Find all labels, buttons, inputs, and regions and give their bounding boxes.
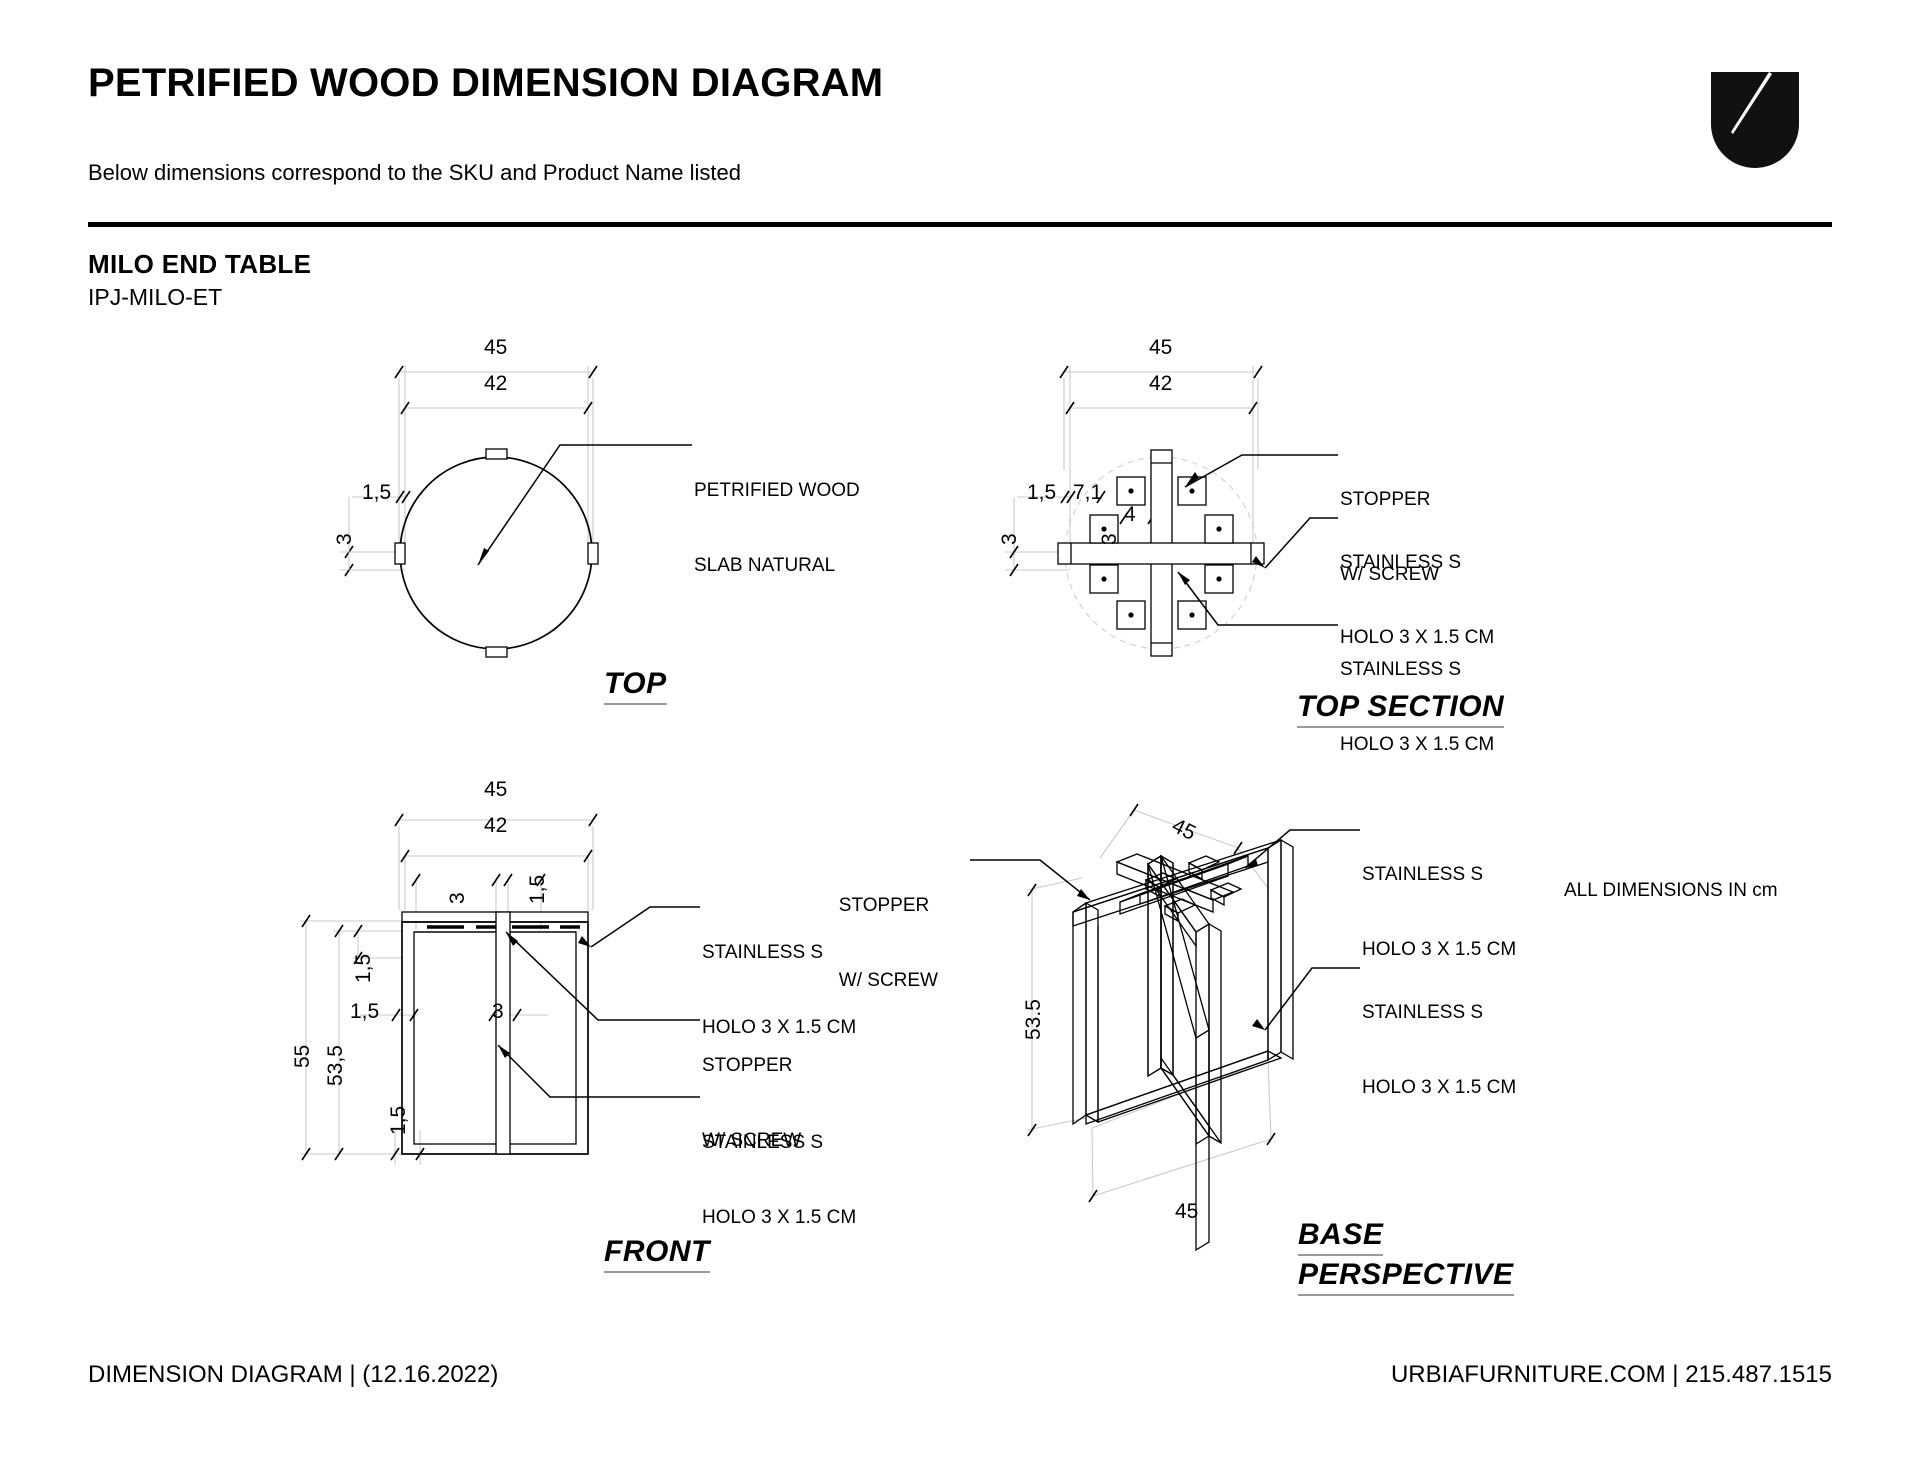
callout-line-1: STOPPER — [839, 893, 938, 918]
callout-line-1: STAINLESS S — [1362, 862, 1516, 887]
all-dimensions-note: ALL DIMENSIONS IN cm — [1564, 880, 1778, 902]
callout-line-2: W/ SCREW — [839, 968, 938, 993]
callout-line-1: STAINLESS S — [1362, 1000, 1516, 1025]
callout-stainless-holo-lower: STAINLESS S HOLO 3 X 1.5 CM — [1362, 950, 1516, 1150]
drawing-sheet: PETRIFIED WOOD DIMENSION DIAGRAM Below d… — [0, 0, 1920, 1484]
callout-stopper-with-screw: STOPPER W/ SCREW — [839, 843, 938, 1043]
baseperspective-dim-width-45: 45 — [1175, 1200, 1198, 1224]
view-label-base-line-2: PERSPECTIVE — [1298, 1258, 1514, 1296]
footer-left-text: DIMENSION DIAGRAM | (12.16.2022) — [88, 1361, 498, 1389]
baseperspective-dim-53-5: 53.5 — [1022, 999, 1046, 1040]
footer-right-text: URBIAFURNITURE.COM | 215.487.1515 — [1391, 1361, 1832, 1389]
callout-line-2: HOLO 3 X 1.5 CM — [1362, 1075, 1516, 1100]
view-label-base-line-1: BASE — [1298, 1218, 1383, 1256]
